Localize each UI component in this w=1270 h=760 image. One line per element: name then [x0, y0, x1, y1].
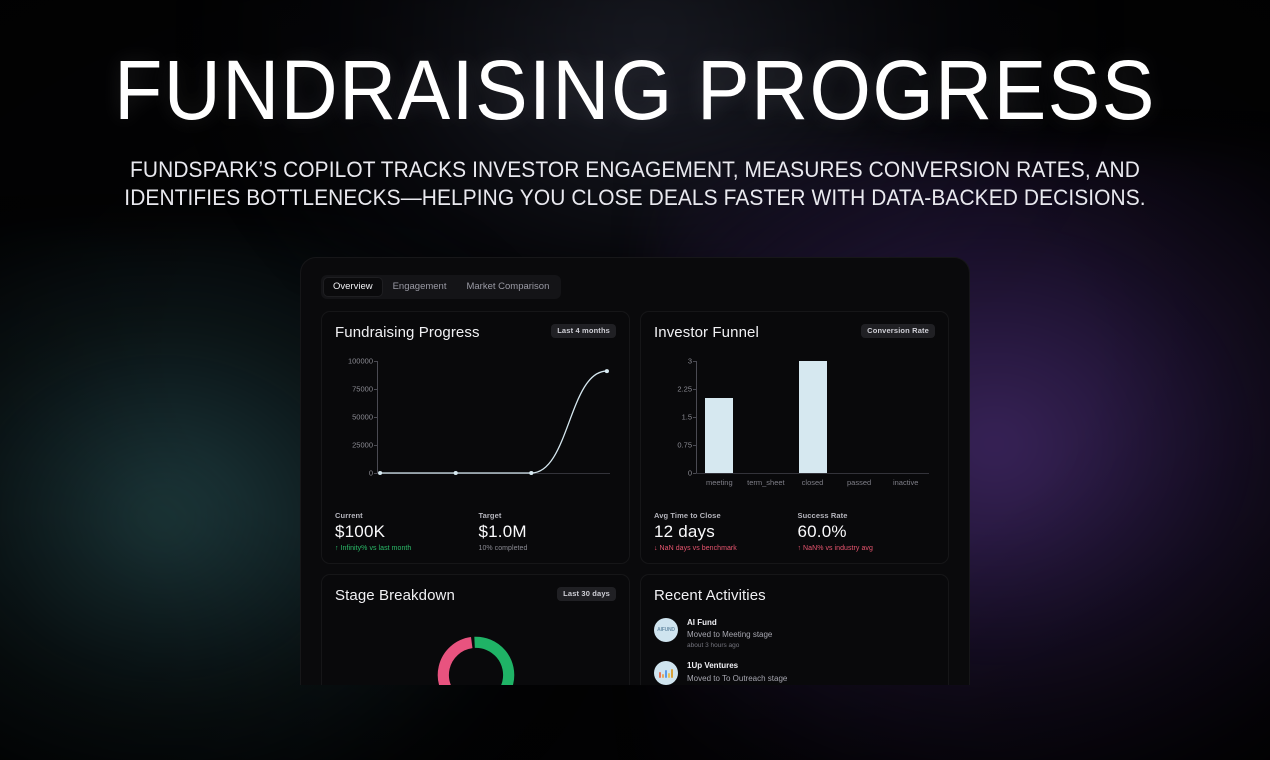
- donut-svg: [433, 632, 519, 686]
- dashboard-window: Overview Engagement Market Comparison Fu…: [300, 257, 970, 685]
- y-axis-tick-label: 25000: [352, 440, 373, 449]
- activity-list: AIFUNDAI FundMoved to Meeting stageabout…: [654, 618, 935, 686]
- metric-delta: 10% completed: [479, 545, 617, 552]
- card-header: Investor Funnel Conversion Rate: [654, 324, 935, 341]
- y-axis-tick-label: 1.5: [682, 412, 692, 421]
- tab-bar[interactable]: Overview Engagement Market Comparison: [321, 275, 561, 299]
- funnel-metrics: Avg Time to Close 12 days ↓ NaN days vs …: [654, 511, 935, 552]
- x-axis-line: [696, 473, 929, 474]
- x-axis-tick-label: inactive: [893, 478, 918, 487]
- card-recent-activities: Recent Activities AIFUNDAI FundMoved to …: [640, 574, 949, 686]
- hero-section: FUNDRAISING PROGRESS FUNDSPARK’S COPILOT…: [0, 48, 1270, 212]
- metric-value: 12 days: [654, 522, 792, 542]
- x-axis-tick-label: meeting: [706, 478, 733, 487]
- metric-delta: ↑ NaN% vs industry avg: [798, 545, 936, 552]
- list-item[interactable]: AIFUNDAI FundMoved to Meeting stageabout…: [654, 618, 935, 650]
- y-axis-tick-label: 0: [688, 468, 692, 477]
- metric-current: Current $100K ↑ Infinity% vs last month: [335, 511, 473, 552]
- metric-delta: ↓ NaN days vs benchmark: [654, 545, 792, 552]
- y-axis-tick-label: 50000: [352, 412, 373, 421]
- bar-chart-icon: [659, 669, 673, 678]
- line-chart-plot-area: 0250005000075000100000: [377, 355, 610, 487]
- investor-funnel-bar-chart: 00.751.52.253meetingterm_sheetclosedpass…: [654, 355, 935, 487]
- x-axis-tick-label: passed: [847, 478, 871, 487]
- activity-description: Moved to To Outreach stage: [687, 674, 787, 684]
- y-axis-tick-label: 2.25: [677, 384, 692, 393]
- metric-label: Target: [479, 511, 617, 520]
- stage-breakdown-donut-chart: [335, 632, 616, 686]
- avatar: [654, 661, 678, 685]
- fundraising-metrics: Current $100K ↑ Infinity% vs last month …: [335, 511, 616, 552]
- metric-value: 60.0%: [798, 522, 936, 542]
- y-axis-tick-label: 0: [369, 468, 373, 477]
- tab-market-comparison[interactable]: Market Comparison: [457, 278, 558, 296]
- metric-label: Success Rate: [798, 511, 936, 520]
- activity-text: 1Up VenturesMoved to To Outreach stageab…: [687, 661, 787, 685]
- screenshot-root: FUNDRAISING PROGRESS FUNDSPARK’S COPILOT…: [0, 0, 1270, 760]
- card-fundraising-progress: Fundraising Progress Last 4 months 02500…: [321, 311, 630, 564]
- badge-last-30-days: Last 30 days: [557, 587, 616, 602]
- line-series: [377, 355, 610, 487]
- badge-last-4-months: Last 4 months: [551, 324, 616, 339]
- x-axis-tick-label: closed: [802, 478, 824, 487]
- card-header: Stage Breakdown Last 30 days: [335, 587, 616, 604]
- donut-segment-meeting: [443, 642, 471, 685]
- card-title: Investor Funnel: [654, 324, 759, 341]
- dashboard-grid: Fundraising Progress Last 4 months 02500…: [321, 311, 949, 686]
- metric-target: Target $1.0M 10% completed: [479, 511, 617, 552]
- activity-investor-name: AI Fund: [687, 618, 772, 628]
- tab-engagement[interactable]: Engagement: [384, 278, 456, 296]
- card-title: Stage Breakdown: [335, 587, 455, 604]
- metric-success-rate: Success Rate 60.0% ↑ NaN% vs industry av…: [798, 511, 936, 552]
- x-axis-tick-label: term_sheet: [747, 478, 785, 487]
- card-header: Recent Activities: [654, 587, 935, 604]
- page-subtitle: FUNDSPARK’S COPILOT TRACKS INVESTOR ENGA…: [122, 156, 1149, 212]
- activity-investor-name: 1Up Ventures: [687, 661, 787, 671]
- metric-label: Avg Time to Close: [654, 511, 792, 520]
- avatar: AIFUND: [654, 618, 678, 642]
- y-axis-line: [696, 361, 697, 473]
- page-title: FUNDRAISING PROGRESS: [38, 48, 1232, 132]
- metric-avg-time-to-close: Avg Time to Close 12 days ↓ NaN days vs …: [654, 511, 792, 552]
- metric-label: Current: [335, 511, 473, 520]
- card-title: Fundraising Progress: [335, 324, 480, 341]
- card-header: Fundraising Progress Last 4 months: [335, 324, 616, 341]
- card-investor-funnel: Investor Funnel Conversion Rate 00.751.5…: [640, 311, 949, 564]
- list-item[interactable]: 1Up VenturesMoved to To Outreach stageab…: [654, 661, 935, 685]
- card-title: Recent Activities: [654, 587, 766, 604]
- y-axis-tick-label: 0.75: [677, 440, 692, 449]
- y-axis-tick-label: 100000: [348, 356, 373, 365]
- card-stage-breakdown: Stage Breakdown Last 30 days: [321, 574, 630, 686]
- activity-text: AI FundMoved to Meeting stageabout 3 hou…: [687, 618, 772, 650]
- avatar-initials: AIFUND: [657, 627, 675, 633]
- tab-overview[interactable]: Overview: [324, 278, 382, 296]
- activity-timestamp: about 3 hours ago: [687, 642, 772, 650]
- metric-delta: ↑ Infinity% vs last month: [335, 545, 473, 552]
- bar-closed: [799, 361, 827, 473]
- bar-meeting: [705, 398, 733, 473]
- metric-value: $1.0M: [479, 522, 617, 542]
- fundraising-line-chart: 0250005000075000100000: [335, 355, 616, 487]
- y-axis-tick-label: 75000: [352, 384, 373, 393]
- y-axis-tick-label: 3: [688, 356, 692, 365]
- activity-description: Moved to Meeting stage: [687, 630, 772, 640]
- bar-chart-plot-area: 00.751.52.253meetingterm_sheetclosedpass…: [696, 355, 929, 487]
- metric-value: $100K: [335, 522, 473, 542]
- dashboard-preview: Overview Engagement Market Comparison Fu…: [300, 257, 970, 685]
- badge-conversion-rate: Conversion Rate: [861, 324, 935, 339]
